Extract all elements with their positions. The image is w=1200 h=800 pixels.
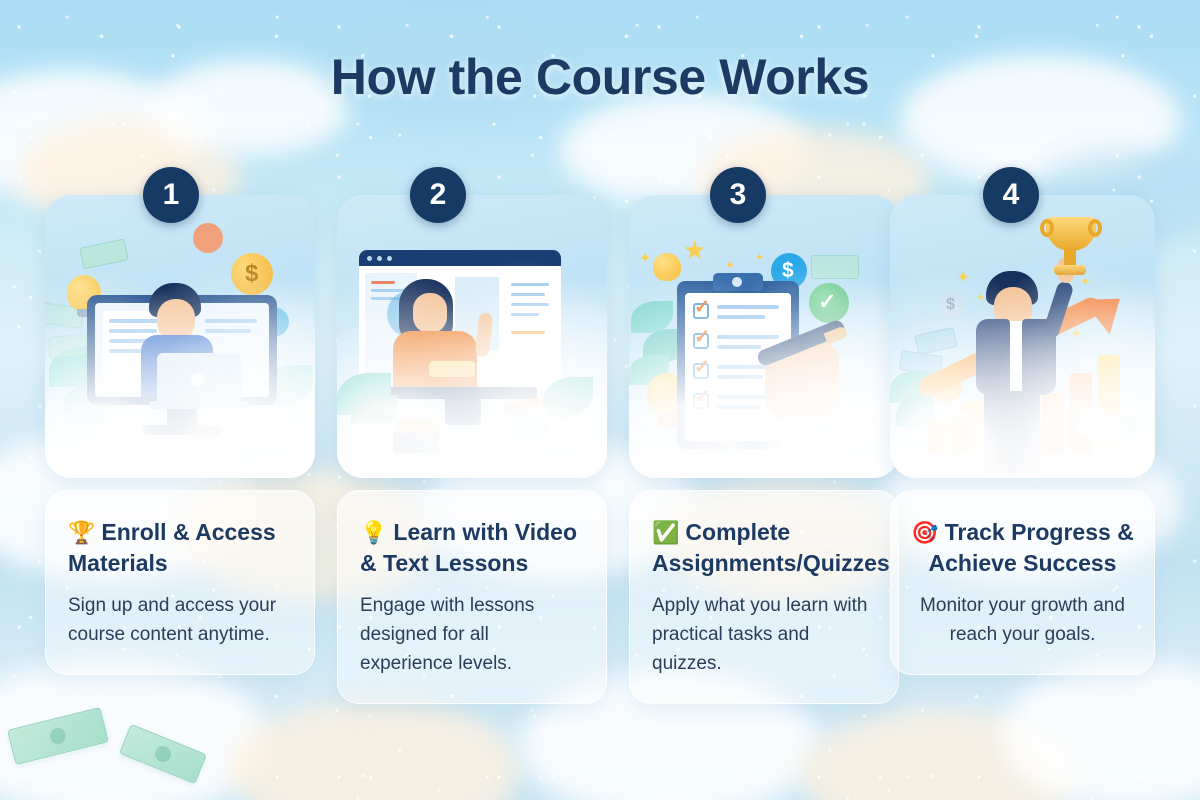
chat-bubble-icon [193,223,223,253]
step-text-card-3[interactable]: ✅Complete Assignments/Quizzes Apply what… [629,490,899,704]
step-number-badge-3: 3 [710,167,766,223]
step-card-1[interactable]: 1 $ [45,195,315,478]
step-card-2[interactable]: 2 [337,195,607,478]
step-text-card-4[interactable]: 🎯Track Progress & Achieve Success Monito… [890,490,1155,675]
step-text-card-1[interactable]: 🏆Enroll & Access Materials Sign up and a… [45,490,315,675]
check-badge-icon: ✅ [652,520,679,545]
step-body-1: Sign up and access your course content a… [68,592,292,650]
step-heading-3: ✅Complete Assignments/Quizzes [652,517,876,578]
lightbulb-icon: 💡 [360,520,387,545]
trophy-icon: 🏆 [68,520,95,545]
step-heading-2: 💡Learn with Video & Text Lessons [360,517,584,578]
step-heading-4: 🎯Track Progress & Achieve Success [905,517,1140,578]
step-illustration-2 [337,195,607,478]
step-heading-1: 🏆Enroll & Access Materials [68,517,292,578]
infographic-poster: How the Course Works 1 [0,0,1200,800]
step-illustration-4: ✦ ✦ ✦ ✦ $ [890,195,1155,478]
step-number-badge-2: 2 [410,167,466,223]
step-card-3[interactable]: 3 ★ ✦ ✦ ✦ $ ✓ [629,195,899,478]
step-illustration-3: ★ ✦ ✦ ✦ $ ✓ [629,195,899,478]
step-number-badge-1: 1 [143,167,199,223]
step-illustration-1: $ $ [45,195,315,478]
target-icon: 🎯 [911,520,938,545]
step-number-badge-4: 4 [983,167,1039,223]
step-text-card-2[interactable]: 💡Learn with Video & Text Lessons Engage … [337,490,607,704]
step-body-3: Apply what you learn with practical task… [652,592,876,679]
steps-container: 1 $ [0,0,1200,800]
step-body-2: Engage with lessons designed for all exp… [360,592,584,679]
step-body-4: Monitor your growth and reach your goals… [905,592,1140,650]
step-card-4[interactable]: 4 ✦ ✦ ✦ ✦ $ [890,195,1155,478]
